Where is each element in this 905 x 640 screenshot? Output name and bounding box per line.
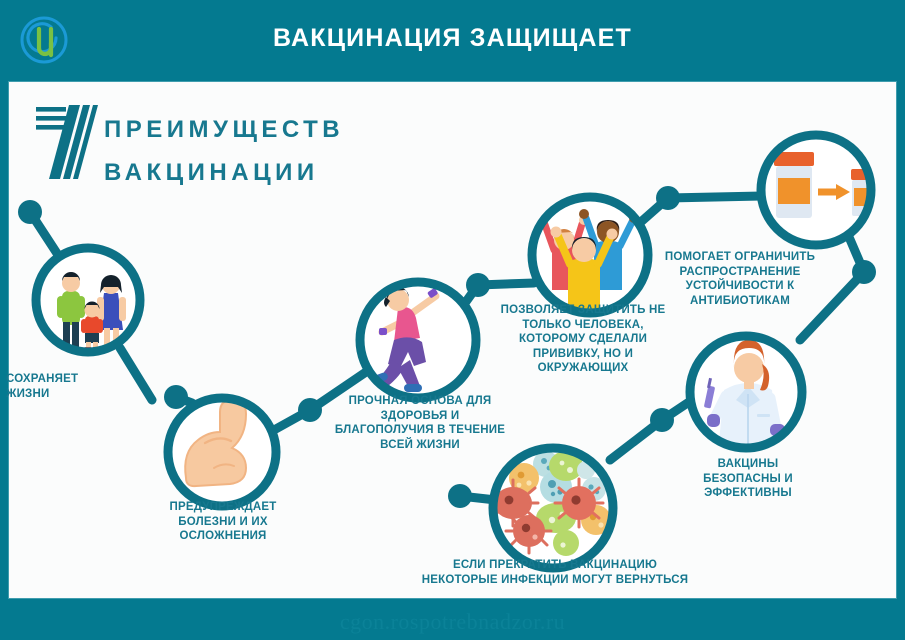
label-infections-return: ЕСЛИ ПРЕКРАТИТЬ ВАКЦИНАЦИЮ НЕКОТОРЫЕ ИНФ… [390,558,720,587]
headline-block: ПРЕИМУЩЕСТВ ВАКЦИНАЦИИ [104,108,344,194]
stylized-seven-icon [36,103,106,181]
headline-line-2: ВАКЦИНАЦИИ [104,151,344,194]
footer-site-url: cgon.rospotrebnadzor.ru [0,609,905,635]
headline-line-1: ПРЕИМУЩЕСТВ [104,108,344,151]
label-protects-others: ПОЗВОЛЯЕТ ЗАЩИТИТЬ НЕ ТОЛЬКО ЧЕЛОВЕКА, К… [490,303,676,376]
infographic-page: ВАКЦИНАЦИЯ ЗАЩИЩАЕТ ПРЕИМУЩЕСТВ ВАКЦИНАЦ… [0,0,905,640]
label-prevents-disease: ПРЕДУПРЕЖДАЕТ БОЛЕЗНИ И ИХ ОСЛОЖНЕНИЯ [140,500,306,544]
header-bar: ВАКЦИНАЦИЯ ЗАЩИЩАЕТ [0,0,905,80]
label-limits-antibiotic-resistance: ПОМОГАЕТ ОГРАНИЧИТЬ РАСПРОСТРАНЕНИЕ УСТО… [652,250,828,308]
label-vaccines-safe-effective: ВАКЦИНЫ БЕЗОПАСНЫ И ЭФФЕКТИВНЫ [678,457,818,501]
label-saves-lives: СОХРАНЯЕТ ЖИЗНИ [6,372,116,401]
page-title: ВАКЦИНАЦИЯ ЗАЩИЩАЕТ [0,24,905,53]
label-healthy-foundation: ПРОЧНАЯ ОСНОВА ДЛЯ ЗДОРОВЬЯ И БЛАГОПОЛУЧ… [320,394,520,452]
